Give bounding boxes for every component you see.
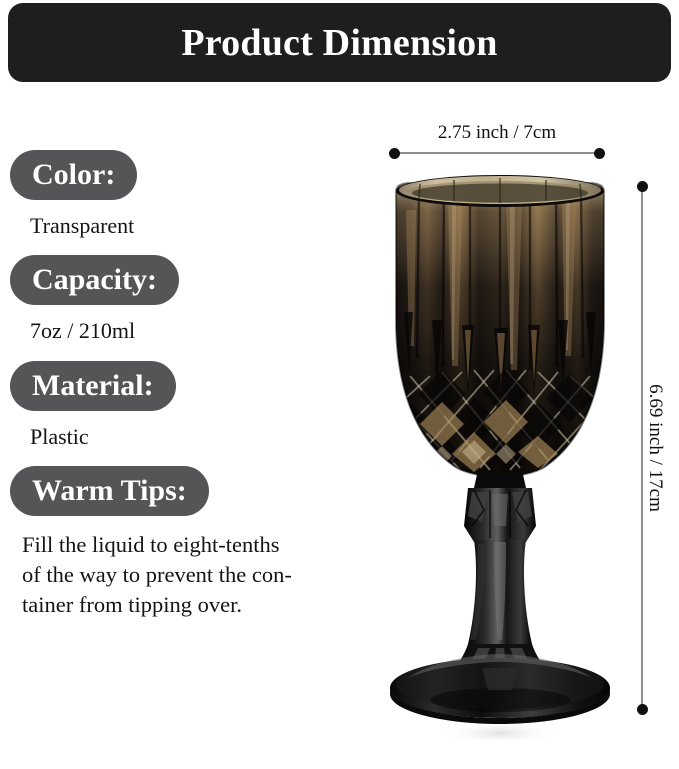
page-title: Product Dimension xyxy=(181,24,497,62)
glass-stem xyxy=(452,470,548,670)
spec-label-badge-capacity: Capacity: xyxy=(10,255,179,305)
glass-foot xyxy=(390,654,610,724)
spec-item-color: Color: Transparent xyxy=(0,150,360,239)
spec-label-capacity: Capacity: xyxy=(32,265,157,295)
page-title-banner: Product Dimension xyxy=(8,3,671,82)
spec-label-material: Material: xyxy=(32,371,154,401)
spec-label-badge-color: Color: xyxy=(10,150,137,200)
height-line xyxy=(641,186,643,710)
warm-tips-line-3: tainer from tipping over. xyxy=(22,590,347,620)
width-line xyxy=(394,152,600,154)
spec-label-badge-material: Material: xyxy=(10,361,176,411)
spec-value-material: Plastic xyxy=(30,424,360,450)
height-dimension-label: 6.69 inch / 17cm xyxy=(644,384,666,512)
warm-tips-line-1: Fill the liquid to eight-tenths xyxy=(22,530,347,560)
spec-value-color: Transparent xyxy=(30,213,360,239)
width-dimension-line: 2.75 inch / 7cm xyxy=(394,152,600,154)
product-image-wine-goblet xyxy=(386,170,614,740)
width-endpoint-left-dot xyxy=(389,148,400,159)
glass-bowl xyxy=(386,183,614,490)
spec-label-warm-tips: Warm Tips: xyxy=(32,476,187,506)
specification-list: Color: Transparent Capacity: 7oz / 210ml… xyxy=(0,150,360,620)
height-dimension-line: 6.69 inch / 17cm xyxy=(641,186,643,710)
spec-item-material: Material: Plastic xyxy=(0,361,360,450)
warm-tips-paragraph: Fill the liquid to eight-tenths of the w… xyxy=(22,530,347,620)
spec-item-warm-tips: Warm Tips: Fill the liquid to eight-tent… xyxy=(0,466,360,620)
spec-item-capacity: Capacity: 7oz / 210ml xyxy=(0,255,360,344)
height-endpoint-top-dot xyxy=(637,181,648,192)
spec-label-badge-warm-tips: Warm Tips: xyxy=(10,466,209,516)
wine-goblet-illustration xyxy=(386,170,614,740)
height-endpoint-bottom-dot xyxy=(637,704,648,715)
glass-rim xyxy=(396,175,604,207)
width-endpoint-right-dot xyxy=(594,148,605,159)
spec-label-color: Color: xyxy=(32,160,115,190)
spec-value-capacity: 7oz / 210ml xyxy=(30,318,360,344)
width-dimension-label: 2.75 inch / 7cm xyxy=(394,122,600,144)
warm-tips-line-2: of the way to prevent the con- xyxy=(22,560,347,590)
